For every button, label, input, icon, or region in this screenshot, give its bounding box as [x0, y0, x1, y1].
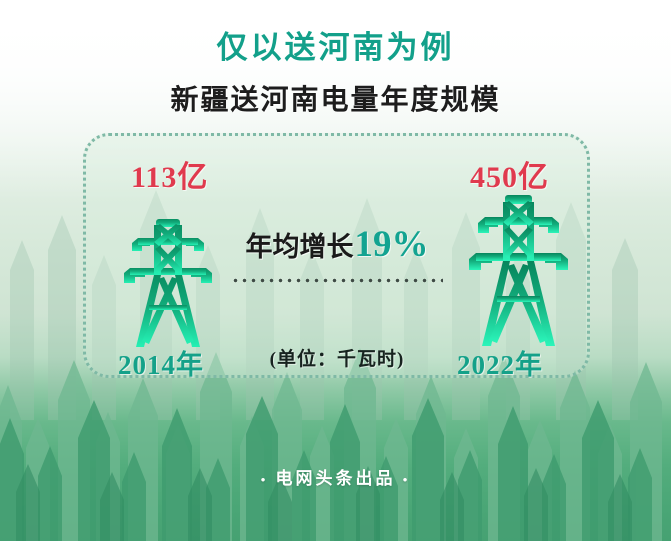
year-label-2022: 2022年: [457, 343, 543, 382]
dotted-divider: [231, 277, 443, 284]
growth-annotation: 年均增长19%: [231, 226, 443, 284]
year-label-2014: 2014年: [118, 343, 204, 382]
transmission-tower-icon: [118, 215, 218, 350]
page-title-main: 仅以送河南为例: [0, 22, 671, 67]
footer-credit: • 电网头条出品 •: [0, 464, 671, 489]
bullet-right-icon: •: [403, 472, 411, 487]
bullet-left-icon: •: [261, 472, 269, 487]
footer-text: 电网头条出品: [276, 469, 396, 488]
transmission-tower-icon: [462, 190, 575, 350]
growth-value: 19%: [355, 224, 429, 265]
unit-note: (单位：千瓦时): [231, 344, 443, 371]
background-forest-near: [0, 380, 671, 541]
infographic-canvas: 仅以送河南为例 新疆送河南电量年度规模 113亿 450亿: [0, 0, 671, 541]
value-2014: 113亿: [131, 152, 208, 196]
growth-line: 年均增长19%: [231, 226, 443, 263]
growth-label: 年均增长: [246, 232, 354, 262]
page-title-sub: 新疆送河南电量年度规模: [0, 78, 671, 118]
